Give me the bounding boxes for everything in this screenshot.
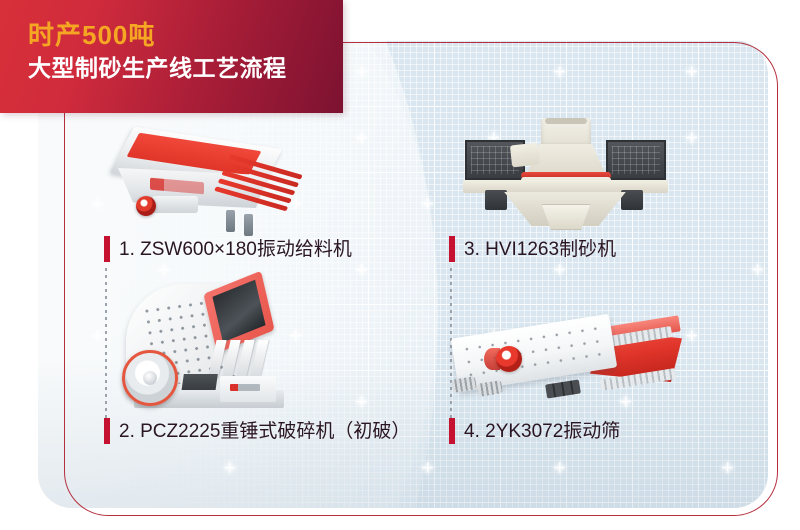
item-4-label: 4. 2YK3072振动筛 [449, 418, 620, 444]
banner-headline-subtitle: 大型制砂生产线工艺流程 [28, 57, 287, 80]
screen-damping-spring [477, 380, 503, 397]
banner-headline-capacity: 时产500吨 [28, 22, 155, 48]
machine-image-2yk-screen [450, 308, 685, 413]
production-line-poster: 1. ZSW600×180振动给料机 2. PCZ2225重锤式破碎机（初破） [0, 0, 800, 530]
screen-eccentric-hub [496, 346, 522, 372]
label-marker-bar [449, 418, 455, 444]
item-4-label-text: 4. 2YK3072振动筛 [464, 422, 620, 441]
screen-dark-module [545, 379, 581, 398]
title-banner: 时产500吨 大型制砂生产线工艺流程 [0, 0, 343, 113]
screen-damping-spring [451, 376, 477, 393]
